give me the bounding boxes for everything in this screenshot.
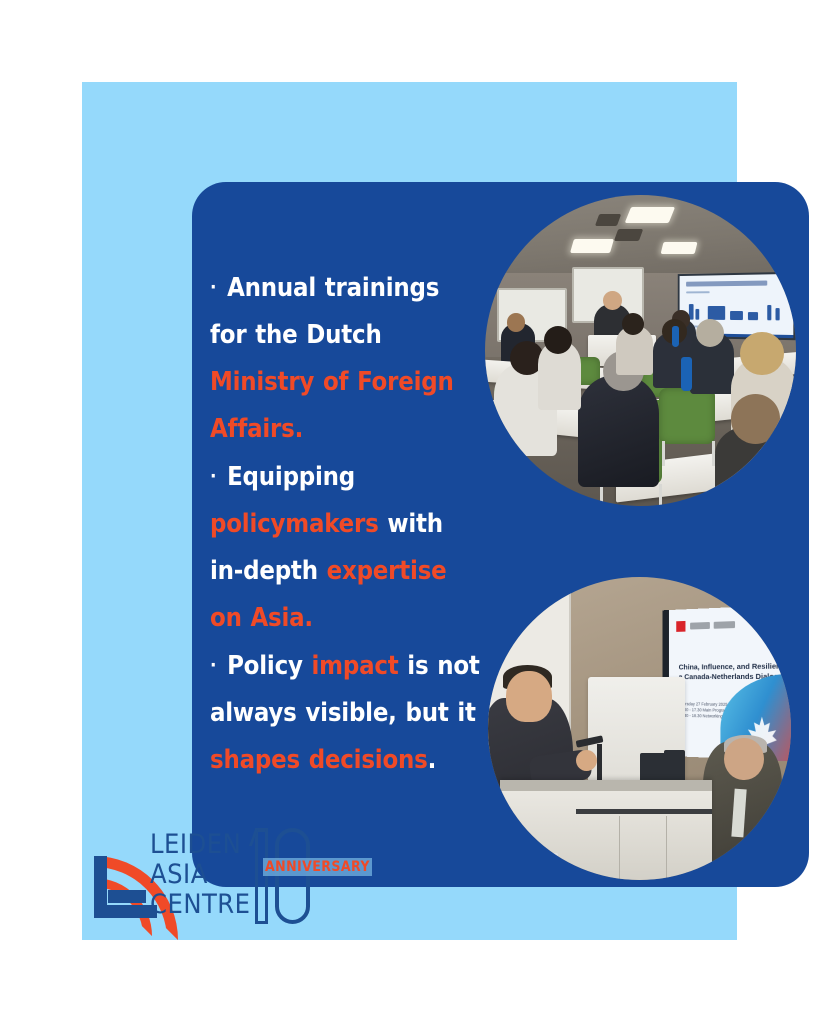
leiden-asia-centre-slide-logo [785, 613, 791, 639]
water-bottle [681, 357, 692, 391]
ceiling-light [661, 242, 698, 254]
speaker-head [506, 671, 551, 723]
bullet-text-column: · Annual trainings for the Dutch Ministr… [210, 264, 482, 784]
government-wordmark [714, 621, 735, 629]
slide-chart-bar [695, 309, 698, 319]
anniversary-label: ANNIVERSARY [263, 858, 372, 876]
anniversary-digit-one [255, 828, 268, 924]
slide-chart-bar [730, 311, 743, 320]
canada-flag-icon [676, 621, 686, 632]
podium-speaker-scene: China, Influence, and Resilience: a Cana… [488, 577, 791, 880]
bullet-3-segment-plain-1: Policy [227, 651, 311, 681]
bullet-marker: · [210, 276, 218, 298]
logo-lockup: LEIDEN ASIA CENTRE ANNIVERSARY [88, 826, 368, 926]
attendee-head [740, 332, 784, 376]
chair-leg [662, 441, 665, 466]
water-bottle [672, 326, 680, 348]
logo-word-asia: ASIA [150, 860, 251, 890]
slide-title-bar [686, 280, 767, 285]
bullet-3-segment-plain-3: . [428, 745, 437, 775]
photo-podium-speaker: China, Influence, and Resilience: a Cana… [488, 577, 791, 880]
ceiling-light [570, 239, 614, 253]
panellist-head [724, 738, 763, 780]
leiden-asia-centre-logo-icon [88, 828, 158, 924]
bullet-2-segment-highlight-1: policymakers [210, 509, 379, 539]
attendee-head [544, 326, 572, 354]
podium-monitor [664, 750, 685, 783]
attendee-body [578, 375, 659, 487]
presenter-head [603, 291, 622, 310]
bullet-marker: · [210, 465, 218, 487]
logo-word-leiden: LEIDEN [150, 830, 251, 860]
anniversary-badge: ANNIVERSARY [253, 826, 368, 926]
bullet-item-1: · Annual trainings for the Dutch Ministr… [210, 264, 482, 453]
government-wordmark [690, 622, 710, 630]
logo-l-foot [94, 905, 157, 918]
bullet-1-segment-highlight: Ministry of Foreign Affairs. [210, 367, 454, 444]
bullet-item-2: · Equipping policymakers with in-depth e… [210, 453, 482, 642]
anniversary-digit-zero [275, 828, 310, 924]
chair-leg [659, 484, 662, 506]
lectern-panel-line [666, 816, 668, 880]
ceiling-light [625, 207, 675, 223]
speaker-hand [576, 750, 597, 771]
bullet-3-segment-highlight-1: impact [312, 651, 399, 681]
logo-inner-bar [108, 890, 146, 903]
lectern-top-edge [500, 780, 712, 791]
logo-wordmark: LEIDEN ASIA CENTRE [150, 830, 251, 920]
attendee-head [622, 313, 644, 335]
slide-chart-bar [775, 308, 780, 320]
attendee-head [507, 313, 526, 332]
bullet-1-segment-plain: Annual trainings for the Dutch [210, 273, 439, 350]
drinking-glass [524, 853, 557, 880]
slide-chart-bar [707, 306, 725, 320]
light-blue-backdrop-panel: · Annual trainings for the Dutch Ministr… [82, 82, 737, 940]
seminar-room-scene [485, 195, 796, 506]
content-card: · Annual trainings for the Dutch Ministr… [192, 182, 809, 887]
slide-text-line [686, 291, 710, 293]
lectern-panel-line [619, 816, 621, 880]
bullet-2-segment-plain-1: Equipping [227, 462, 355, 492]
chair [659, 388, 715, 444]
bullet-item-3: · Policy impact is not always visible, b… [210, 642, 482, 784]
lectern-seam [576, 809, 712, 814]
slide-chart-bar [767, 305, 772, 320]
slide-chart-bar [748, 312, 757, 320]
bullet-3-segment-highlight-2: shapes decisions [210, 745, 428, 775]
photo-seminar-room [485, 195, 796, 506]
bullet-marker: · [210, 654, 218, 676]
ceiling-vent [613, 229, 642, 241]
ceiling-vent [595, 214, 621, 226]
slide-title-line-1: China, Influence, and Resilience: [678, 661, 791, 672]
logo-word-centre: CENTRE [150, 890, 251, 920]
attendee-head [731, 394, 781, 444]
